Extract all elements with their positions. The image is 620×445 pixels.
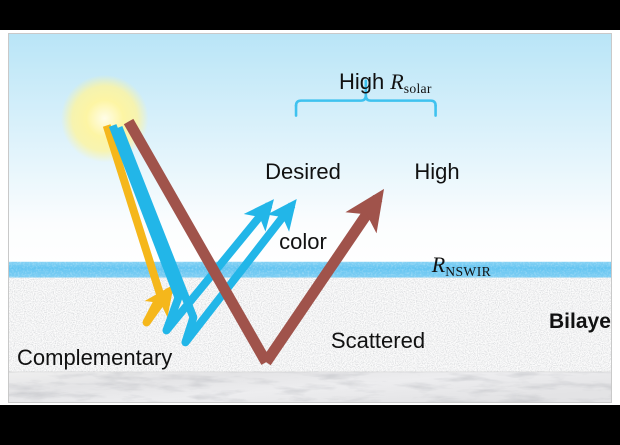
sun-icon [61, 75, 149, 163]
high-rsolar-subscript: solar [404, 81, 432, 96]
label-complementary-absorbed: Complementary color absorbed [17, 299, 172, 403]
high-rnswir-line1: High [367, 160, 507, 183]
bilayer-text: Bilayer [549, 310, 612, 333]
desired-color-line1: Desired [236, 160, 370, 183]
label-high-rsolar: High Rsolar [272, 47, 462, 120]
scattered-line1: Scattered [314, 329, 442, 352]
label-desired-color: Desired color [236, 113, 370, 300]
high-rsolar-prefix: High [339, 69, 390, 94]
label-scattered-nswir: Scattered NSWIR reflected [314, 282, 442, 403]
diagram-figure: High Rsolar Desired color High RNSWIR Co… [8, 33, 612, 403]
complementary-line1: Complementary [17, 346, 172, 369]
high-rnswir-subscript: NSWIR [445, 264, 491, 279]
high-rsolar-symbol: R [390, 69, 403, 94]
label-bilayer: Bilayer [514, 289, 612, 356]
high-rnswir-symbol: R [432, 252, 445, 277]
screenshot-root: High Rsolar Desired color High RNSWIR Co… [0, 0, 620, 445]
scattered-line2: NSWIR [314, 399, 442, 403]
desired-color-line2: color [236, 230, 370, 253]
